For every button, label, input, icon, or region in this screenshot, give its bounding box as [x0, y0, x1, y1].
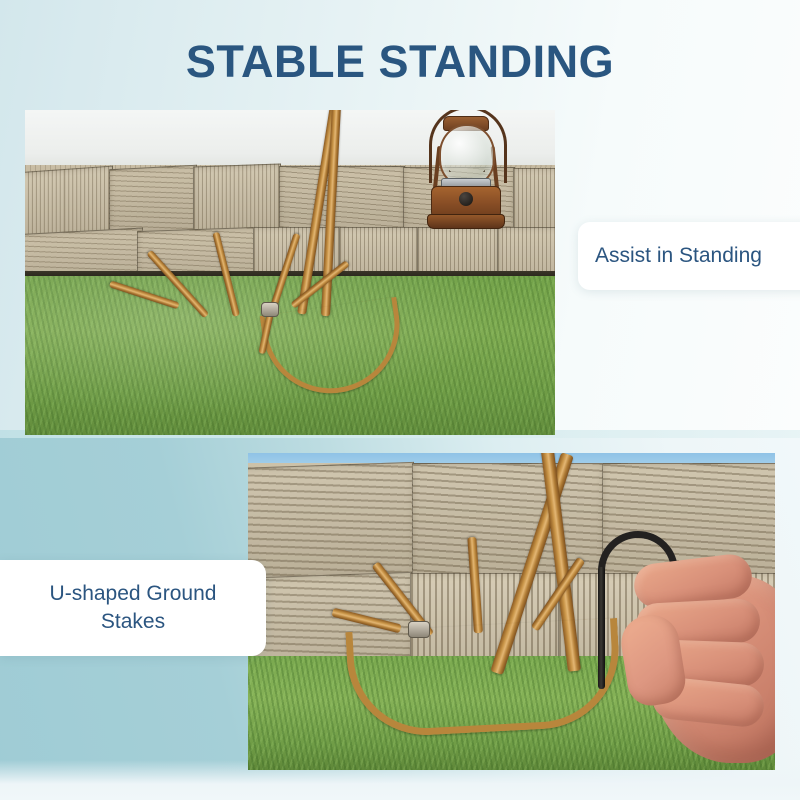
lantern-globe	[439, 124, 495, 186]
lantern-foot	[427, 214, 505, 229]
stake-leg-left	[598, 567, 605, 689]
product-feature-card: STABLE STANDING	[0, 0, 800, 800]
human-hand	[628, 529, 775, 770]
callout-right-text: Assist in Standing	[595, 242, 762, 270]
stake-collar	[408, 621, 430, 638]
oil-lantern	[425, 110, 505, 230]
stake-collar	[261, 302, 279, 317]
photo-bottom-hand-with-stake	[248, 453, 775, 770]
callout-assist-in-standing: Assist in Standing	[578, 222, 800, 290]
callout-left-line1: U-shaped Ground	[50, 582, 217, 605]
deck-tile	[248, 461, 414, 581]
callout-u-shaped-ground-stakes: U-shaped Ground Stakes	[0, 560, 266, 656]
lantern-knob	[459, 192, 473, 206]
deck-tile	[193, 164, 281, 235]
callout-left-line2: Stakes	[101, 610, 165, 633]
callout-left-text: U-shaped Ground Stakes	[50, 580, 217, 635]
page-title: STABLE STANDING	[0, 36, 800, 88]
photo-top-stake-in-lawn	[25, 110, 555, 435]
deck-tile	[109, 165, 197, 238]
